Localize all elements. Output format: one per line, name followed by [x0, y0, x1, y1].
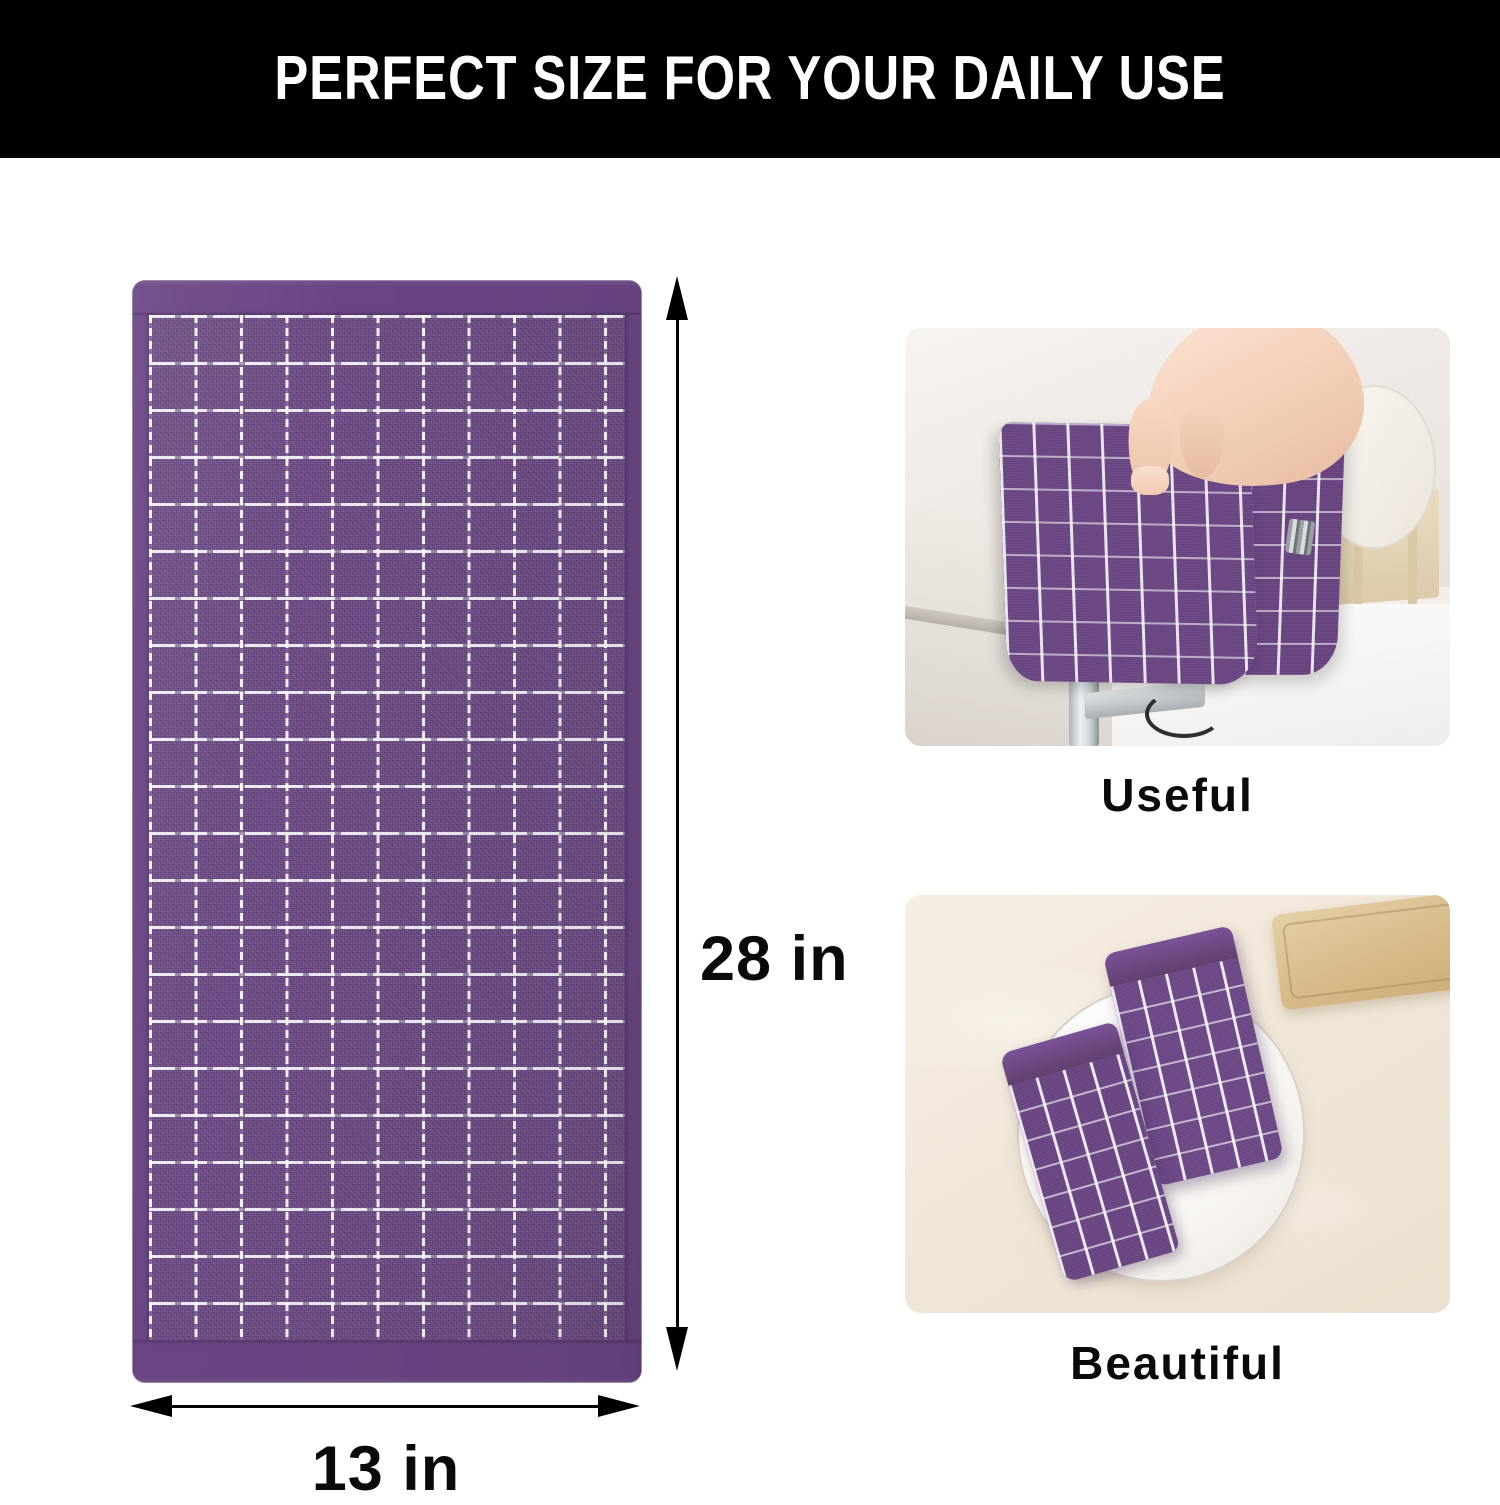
caption-beautiful: Beautiful [905, 1336, 1450, 1390]
arrow-head-down-icon [666, 1327, 688, 1371]
scene-sink [905, 328, 1450, 746]
fingernail [1131, 466, 1169, 495]
arrow-shaft-vertical [676, 292, 679, 1355]
main-stage: 28 in 13 in [0, 158, 1500, 1486]
towel-body [133, 281, 641, 1382]
photo-beautiful [905, 895, 1450, 1313]
towel-product-image [133, 281, 641, 1382]
cutting-board-groove [1282, 903, 1450, 1000]
width-dimension-label: 13 in [0, 1433, 772, 1505]
towel-hem-bottom [133, 1340, 641, 1382]
towel-grid-horizontal-lines [149, 315, 625, 1340]
scene-countertop [905, 895, 1450, 1313]
towel-hem-top [133, 281, 641, 315]
height-dimension-arrow [660, 276, 694, 1371]
height-dimension-label: 28 in [700, 923, 849, 995]
arrow-head-right-icon [598, 1395, 640, 1417]
sink-hose [1145, 690, 1223, 738]
photo-useful [905, 328, 1450, 746]
caption-useful: Useful [905, 768, 1450, 822]
towel-hem-left [133, 281, 149, 1382]
arrow-shaft-horizontal [146, 1405, 624, 1408]
towel-hem-right [625, 281, 641, 1382]
metal-clip [1284, 519, 1314, 556]
banner-title: PERFECT SIZE FOR YOUR DAILY USE [274, 48, 1225, 110]
header-banner: PERFECT SIZE FOR YOUR DAILY USE [0, 0, 1500, 158]
width-dimension-arrow [130, 1390, 640, 1424]
